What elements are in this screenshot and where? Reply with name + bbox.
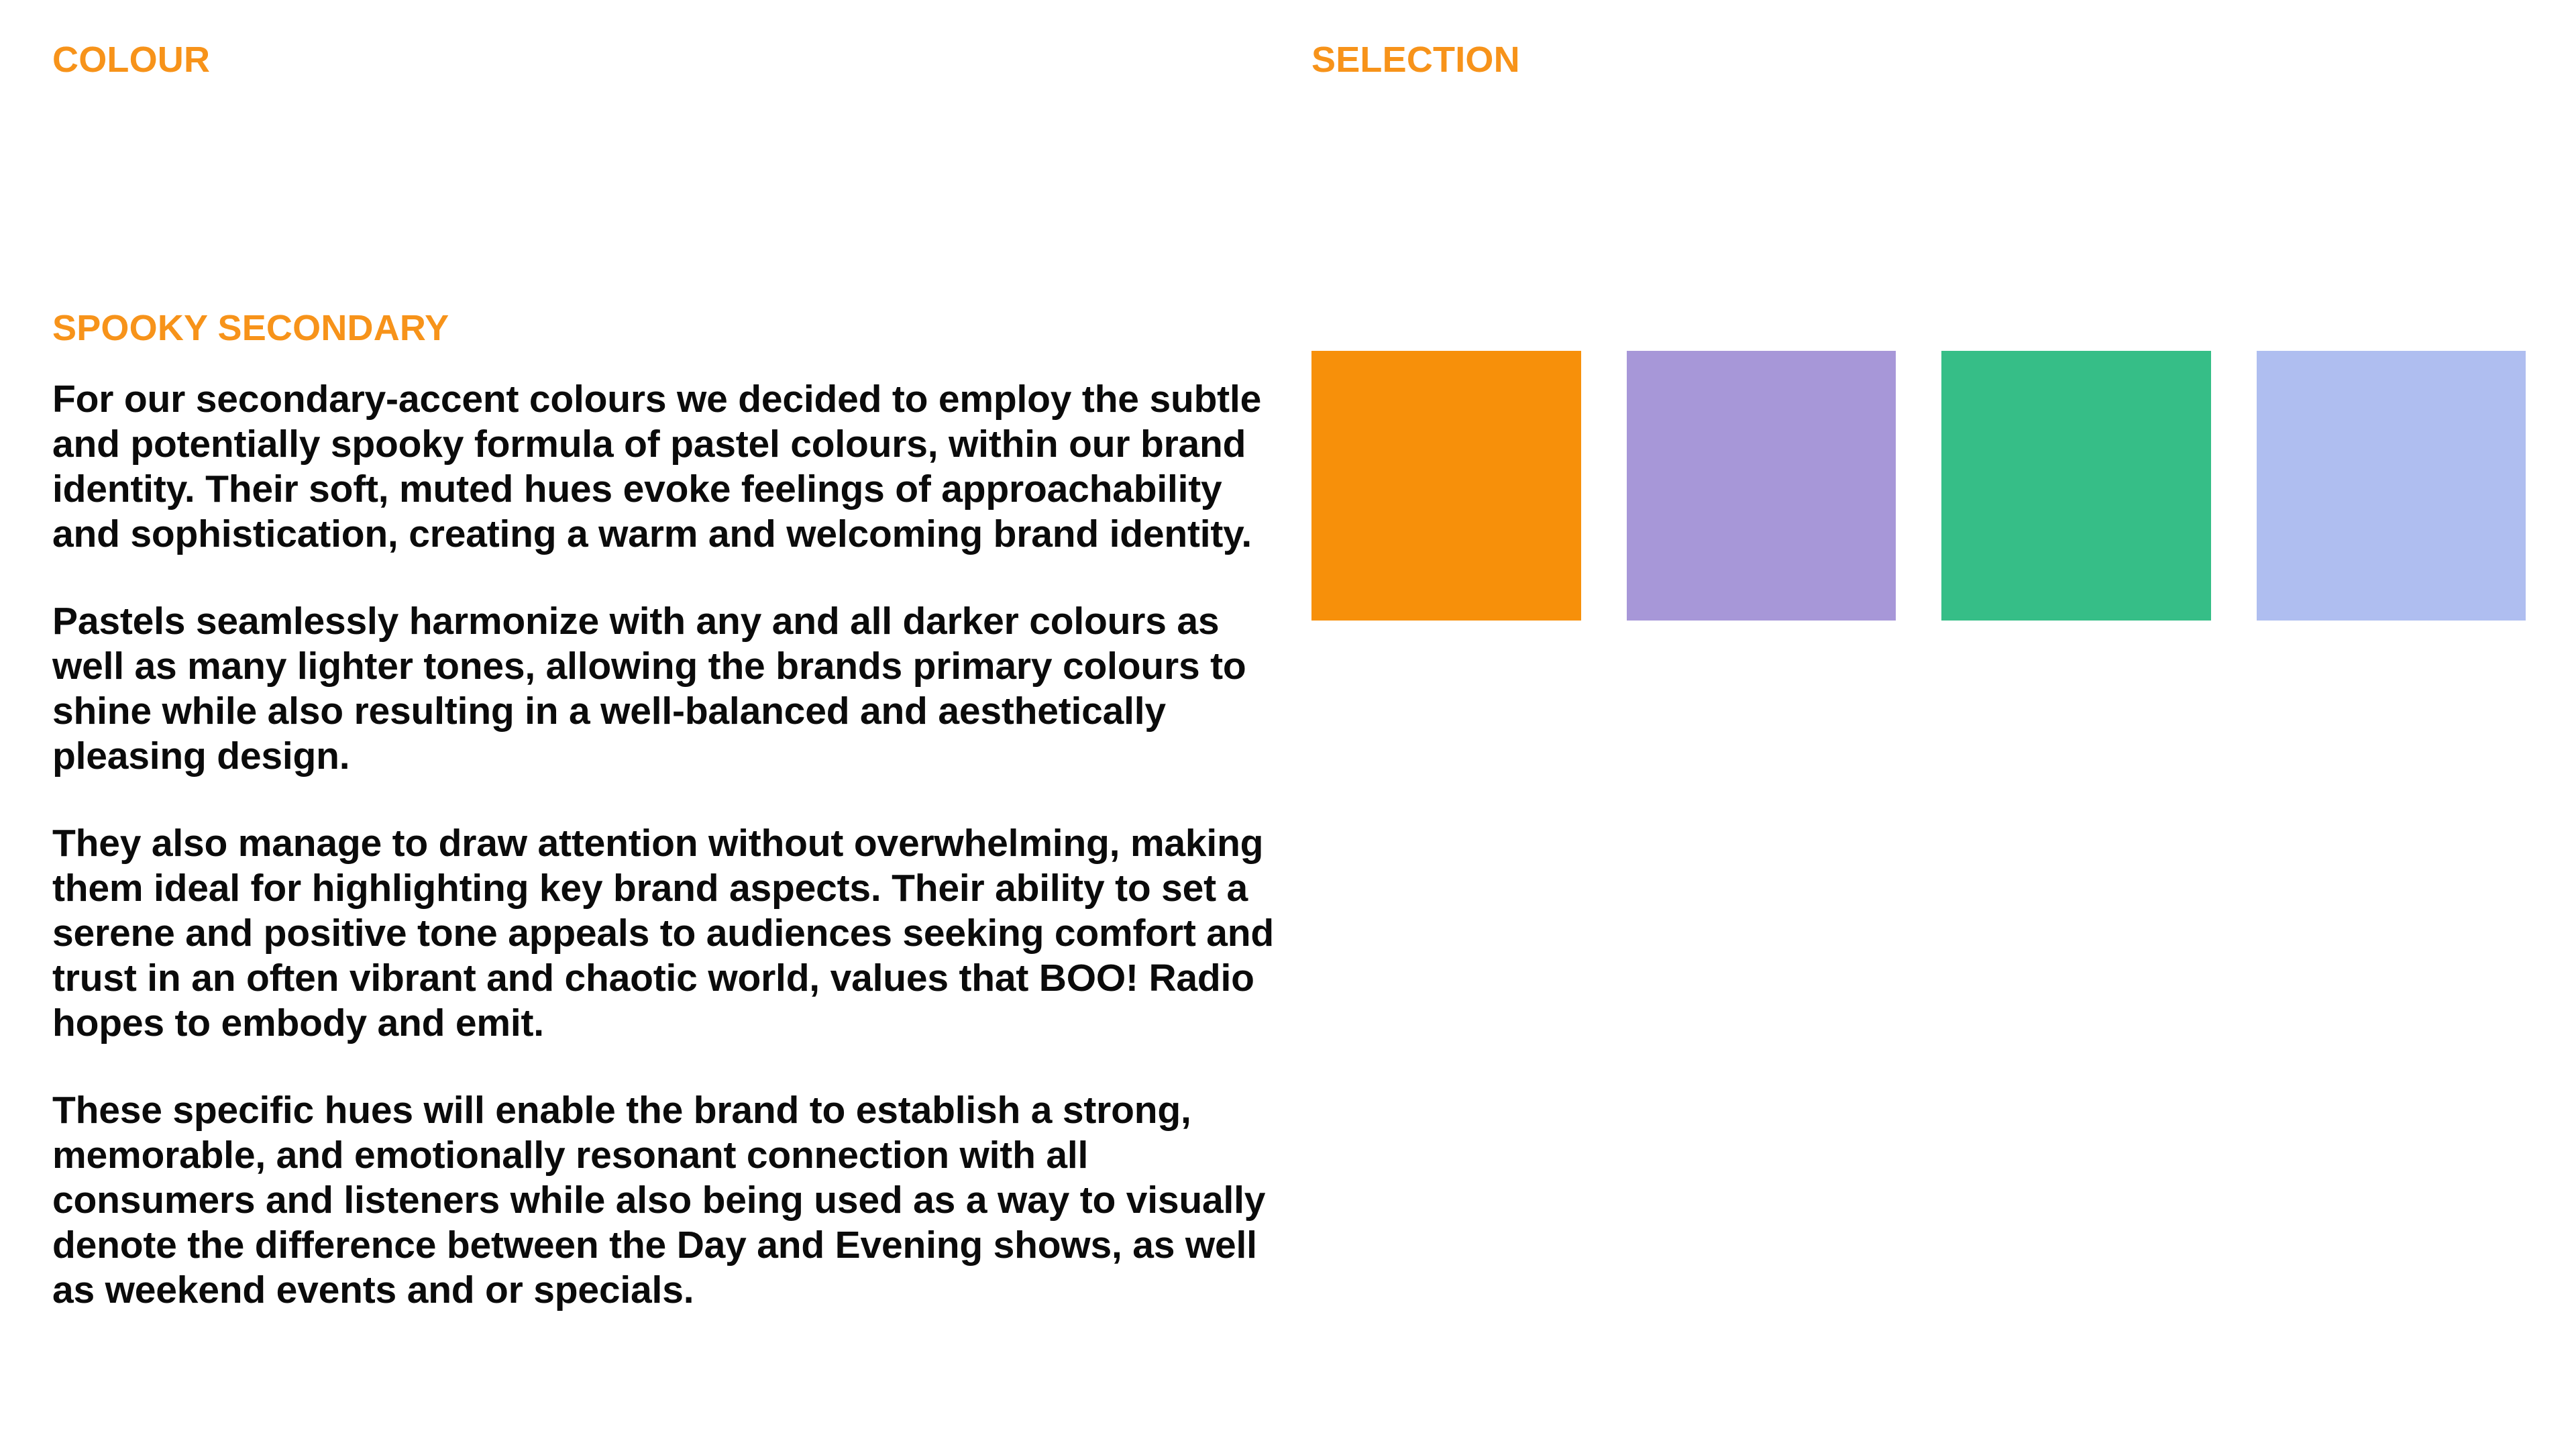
body-paragraph: Pastels seamlessly harmonize with any an… xyxy=(52,599,1280,779)
section-label-row: COLOUR SELECTION xyxy=(0,0,2576,121)
colour-swatch-pastel-purple[interactable] xyxy=(1627,351,1896,621)
section-label-selection: SELECTION xyxy=(1311,42,1520,78)
colour-swatch-strip xyxy=(1311,351,2526,621)
spooky-secondary-text-column: SPOOKY SECONDARY For our secondary-accen… xyxy=(52,309,1280,1313)
body-paragraph: For our secondary-accent colours we deci… xyxy=(52,377,1280,557)
colour-swatch-pastel-blue[interactable] xyxy=(2257,351,2526,621)
colour-swatch-spooky-orange[interactable] xyxy=(1311,351,1581,621)
section-label-colour: COLOUR xyxy=(52,42,210,78)
body-paragraph: These specific hues will enable the bran… xyxy=(52,1088,1280,1313)
body-paragraph: They also manage to draw attention witho… xyxy=(52,821,1280,1046)
paragraph-container: For our secondary-accent colours we deci… xyxy=(52,377,1280,1313)
colour-swatch-pastel-green[interactable] xyxy=(1941,351,2211,621)
block-heading-spooky-secondary: SPOOKY SECONDARY xyxy=(52,309,1280,347)
